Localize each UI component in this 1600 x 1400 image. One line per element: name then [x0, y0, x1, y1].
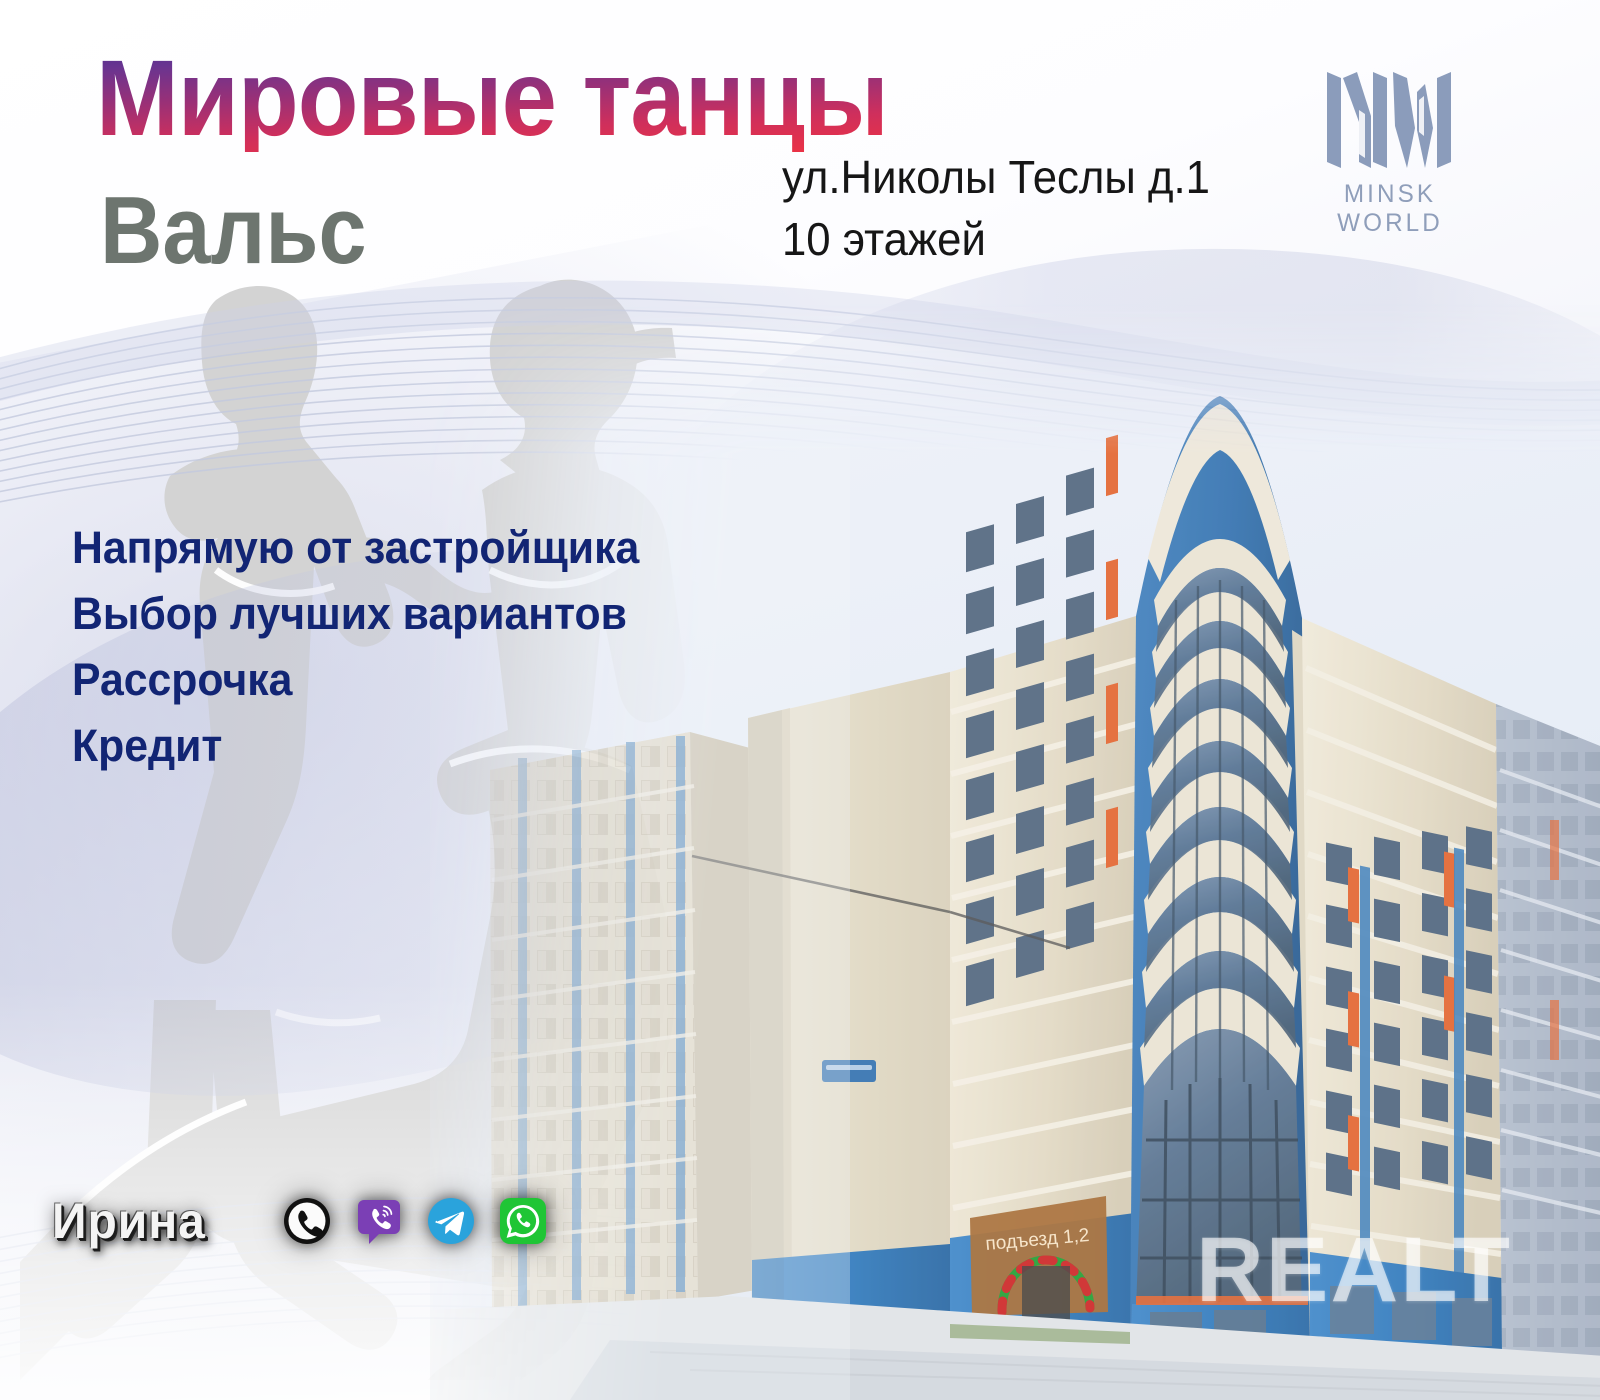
viber-icon[interactable]	[354, 1196, 404, 1246]
whatsapp-icon[interactable]	[498, 1196, 548, 1246]
page-subtitle: Вальс	[100, 183, 366, 279]
agent-name: Ирина	[52, 1192, 206, 1250]
phone-icon[interactable]	[282, 1196, 332, 1246]
minsk-world-logo: MINSK WORLD	[1290, 66, 1490, 226]
contact-row: Ирина	[52, 1192, 570, 1250]
feature-item-1: Выбор лучших вариантов	[72, 581, 639, 647]
telegram-icon[interactable]	[426, 1196, 476, 1246]
advertisement-poster: подъезд 1,2	[0, 0, 1600, 1400]
minsk-world-wordmark: MINSK WORLD	[1293, 180, 1487, 238]
feature-item-3: Кредит	[72, 713, 639, 779]
feature-item-0: Напрямую от застройщика	[72, 515, 639, 581]
address-floors: 10 этажей	[782, 209, 1210, 271]
page-title: Мировые танцы	[96, 44, 888, 152]
features-list: Напрямую от застройщика Выбор лучших вар…	[72, 515, 639, 780]
address-street: ул.Николы Теслы д.1	[782, 147, 1210, 209]
mw-monogram-icon	[1315, 66, 1465, 174]
feature-item-2: Рассрочка	[72, 647, 639, 713]
address-block: ул.Николы Теслы д.1 10 этажей	[782, 147, 1210, 270]
building-photo: подъезд 1,2	[430, 300, 1600, 1400]
